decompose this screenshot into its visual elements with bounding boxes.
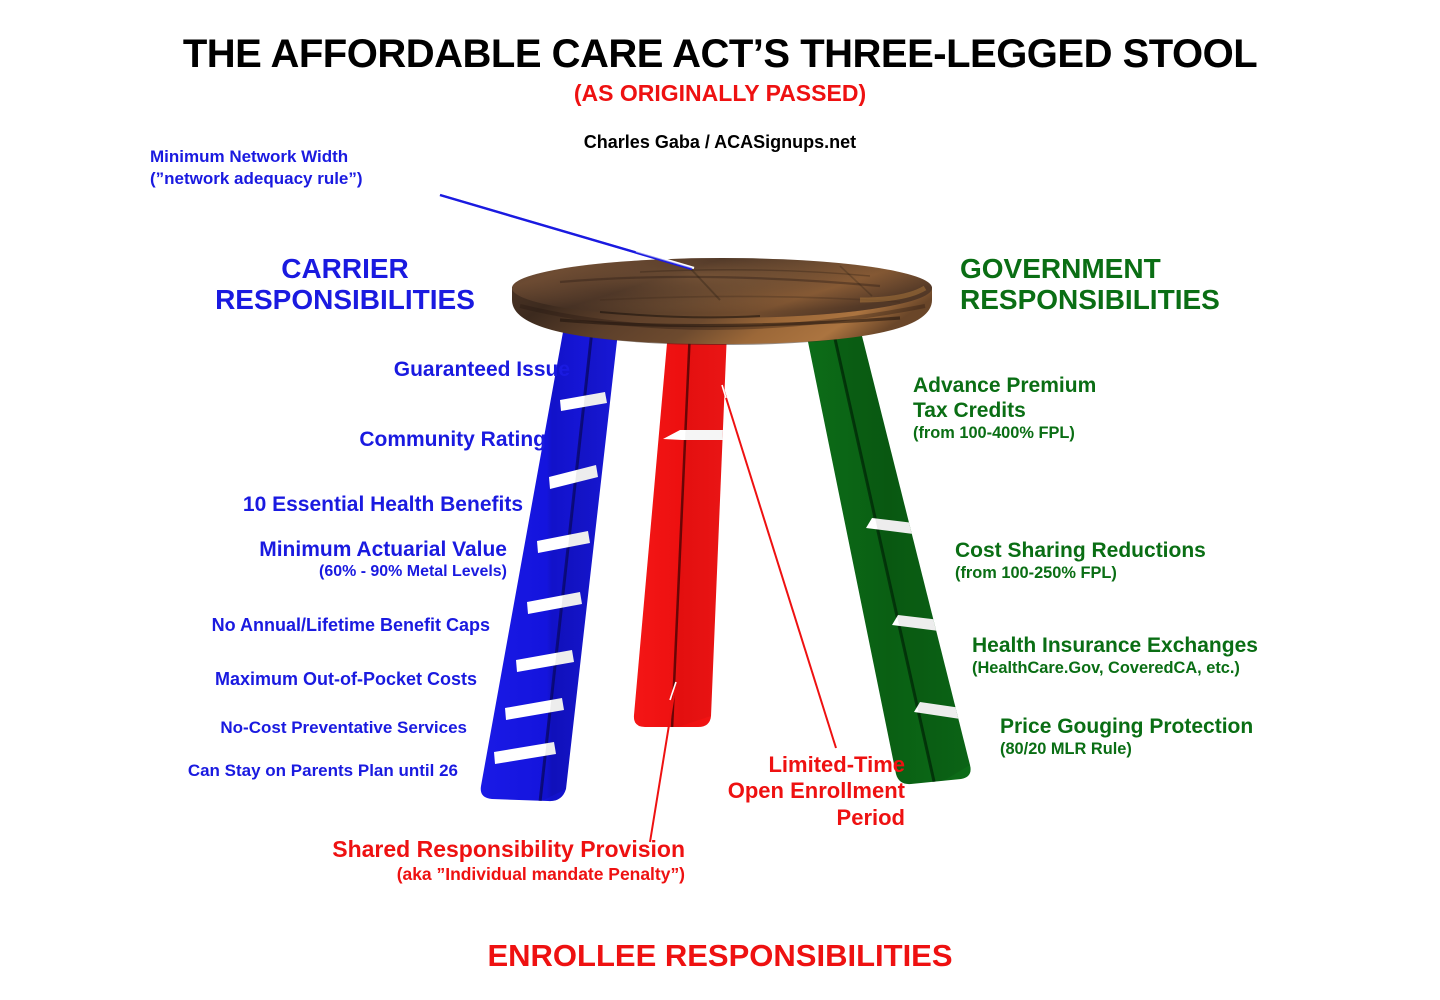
page-title: THE AFFORDABLE CARE ACT’S THREE-LEGGED S…	[0, 32, 1440, 77]
government-item-label-line2: Tax Credits	[913, 399, 1430, 424]
infographic-canvas: THE AFFORDABLE CARE ACT’S THREE-LEGGED S…	[0, 0, 1440, 1000]
government-item-sublabel: (from 100-400% FPL)	[913, 424, 1430, 443]
government-item-label: Health Insurance Exchanges	[972, 634, 1430, 659]
limited-time-line1: Limited-Time	[690, 752, 905, 778]
carrier-item-label: Maximum Out-of-Pocket Costs	[215, 669, 477, 689]
carrier-item-label: Community Rating	[359, 428, 546, 451]
carrier-item: Minimum Actuarial Value(60% - 90% Metal …	[40, 538, 507, 582]
carrier-responsibilities-heading: CARRIER RESPONSIBILITIES	[200, 253, 490, 316]
carrier-item-label: Guaranteed Issue	[394, 358, 570, 381]
carrier-item: 10 Essential Health Benefits	[40, 493, 523, 518]
limited-time-leader-line	[722, 385, 836, 748]
shared-responsibility-callout: Shared Responsibility Provision (aka ”In…	[215, 836, 685, 885]
carrier-item-label: No Annual/Lifetime Benefit Caps	[212, 615, 490, 635]
government-item-label: Cost Sharing Reductions	[955, 539, 1430, 564]
government-item-sublabel: (HealthCare.Gov, CoveredCA, etc.)	[972, 659, 1430, 678]
enrollee-responsibilities-heading: ENROLLEE RESPONSIBILITIES	[0, 938, 1440, 974]
limited-time-line2: Open Enrollment	[690, 778, 905, 804]
government-item: Advance PremiumTax Credits(from 100-400%…	[913, 374, 1430, 443]
government-item: Health Insurance Exchanges(HealthCare.Go…	[972, 634, 1430, 678]
carrier-item-label: No-Cost Preventative Services	[220, 718, 467, 737]
shared-responsibility-sublabel: (aka ”Individual mandate Penalty”)	[215, 864, 685, 885]
carrier-heading-line2: RESPONSIBILITIES	[200, 284, 490, 315]
limited-time-enrollment-callout: Limited-Time Open Enrollment Period	[690, 752, 905, 831]
enrollee-leg	[634, 330, 730, 729]
carrier-item-label: Can Stay on Parents Plan until 26	[188, 761, 458, 780]
network-annotation-line1: Minimum Network Width	[150, 146, 450, 168]
government-responsibilities-heading: GOVERNMENT RESPONSIBILITIES	[960, 253, 1300, 316]
carrier-heading-line1: CARRIER	[200, 253, 490, 284]
carrier-item: Can Stay on Parents Plan until 26	[40, 761, 458, 781]
government-item: Cost Sharing Reductions(from 100-250% FP…	[955, 539, 1430, 583]
carrier-item: No-Cost Preventative Services	[40, 718, 467, 738]
carrier-item: Maximum Out-of-Pocket Costs	[40, 669, 477, 690]
network-annotation-line2: (”network adequacy rule”)	[150, 168, 450, 190]
government-item-label: Advance Premium	[913, 374, 1430, 399]
government-item-sublabel: (80/20 MLR Rule)	[1000, 740, 1430, 759]
wooden-stool-seat	[512, 258, 932, 345]
carrier-item: No Annual/Lifetime Benefit Caps	[40, 615, 490, 636]
government-item: Price Gouging Protection(80/20 MLR Rule)	[1000, 715, 1430, 759]
government-item-label: Price Gouging Protection	[1000, 715, 1430, 740]
carrier-item: Community Rating	[40, 428, 546, 453]
carrier-item-sublabel: (60% - 90% Metal Levels)	[40, 563, 507, 582]
carrier-item: Guaranteed Issue	[40, 358, 570, 383]
page-subtitle: (AS ORIGINALLY PASSED)	[0, 80, 1440, 107]
government-heading-line1: GOVERNMENT	[960, 253, 1300, 284]
carrier-item-label: 10 Essential Health Benefits	[243, 493, 523, 516]
limited-time-line3: Period	[690, 805, 905, 831]
government-item-sublabel: (from 100-250% FPL)	[955, 564, 1430, 583]
government-heading-line2: RESPONSIBILITIES	[960, 284, 1300, 315]
network-adequacy-annotation: Minimum Network Width (”network adequacy…	[150, 146, 450, 190]
carrier-item-label: Minimum Actuarial Value	[259, 538, 507, 561]
shared-responsibility-label: Shared Responsibility Provision	[332, 836, 685, 862]
